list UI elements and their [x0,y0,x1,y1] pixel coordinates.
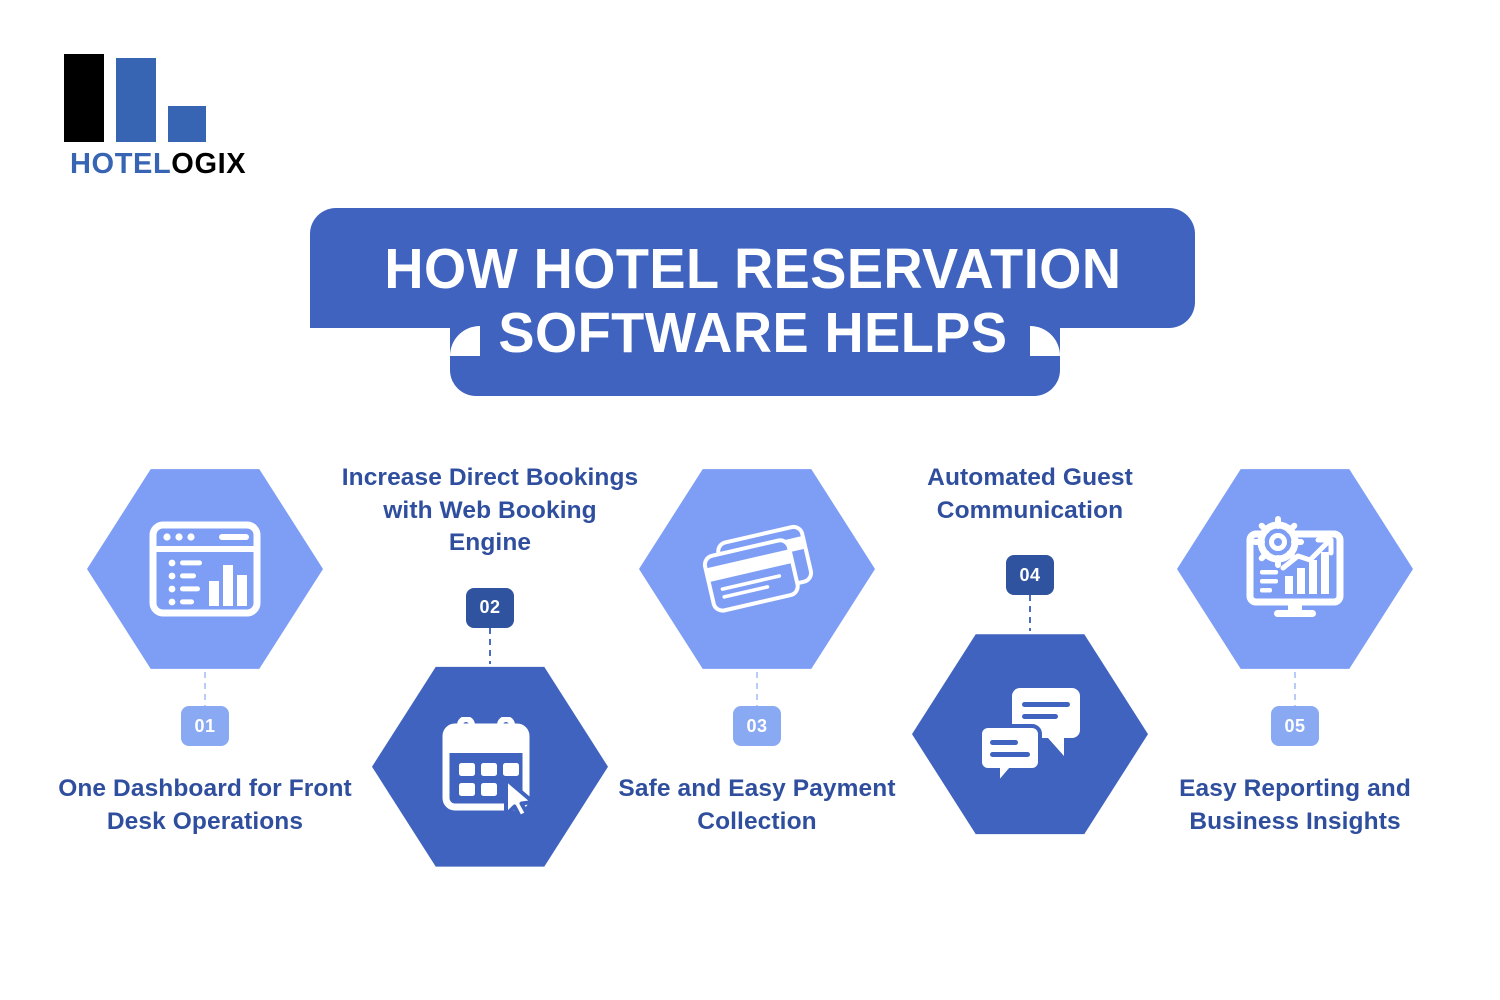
title-banner-row-bottom [450,298,1060,396]
feature-caption-05: Easy Reporting and Business Insights [1145,773,1445,838]
infographic-canvas: HOTELOGIX HOW HOTEL RESERVATION SOFTWARE… [0,0,1500,1000]
calendar-cursor-icon [438,717,542,817]
connector-line-01 [204,672,206,706]
feature-item-05[interactable]: 05 Easy Reporting and Business Insights [1145,466,1445,838]
feature-hexagon-04[interactable] [912,631,1148,837]
logo-bar-1 [64,54,104,142]
page-title-banner: HOW HOTEL RESERVATION SOFTWARE HELPS [310,208,1195,396]
logo-bar-2 [116,58,156,142]
connector-line-05 [1294,672,1296,706]
logo-wordmark-ogix: OGIX [171,148,246,180]
logo-wordmark: HOTELOGIX [70,150,246,179]
connector-line-02 [489,628,491,664]
connector-line-03 [756,672,758,706]
logo-bar-3 [168,106,206,142]
logo-wordmark-hotel: HOTEL [70,148,171,180]
step-badge-03: 03 [733,706,781,746]
credit-cards-icon [693,516,821,622]
feature-hexagon-05[interactable] [1177,466,1413,672]
feature-hexagon-03[interactable] [639,466,875,672]
step-badge-02: 02 [466,588,514,628]
dashboard-window-icon [149,521,261,617]
feature-item-01[interactable]: 01 One Dashboard for Front Desk Operatio… [55,466,355,838]
feature-item-02[interactable]: Increase Direct Bookings with Web Bookin… [340,462,640,870]
chat-bubbles-icon [976,684,1084,784]
feature-item-03[interactable]: 03 Safe and Easy Payment Collection [607,466,907,838]
feature-caption-02: Increase Direct Bookings with Web Bookin… [340,462,640,560]
step-badge-05: 05 [1271,706,1319,746]
feature-hexagon-02[interactable] [372,664,608,870]
step-badge-01: 01 [181,706,229,746]
feature-item-04[interactable]: Automated Guest Communication 04 [880,462,1180,837]
logo-bar-chart-icon [64,54,249,142]
step-badge-04: 04 [1006,555,1054,595]
hotelogix-logo: HOTELOGIX [64,54,294,189]
connector-line-04 [1029,595,1031,631]
feature-caption-01: One Dashboard for Front Desk Operations [55,773,355,838]
feature-hexagon-01[interactable] [87,466,323,672]
feature-caption-04: Automated Guest Communication [880,462,1180,527]
monitor-gear-growth-chart-icon [1238,516,1352,622]
feature-caption-03: Safe and Easy Payment Collection [607,773,907,838]
